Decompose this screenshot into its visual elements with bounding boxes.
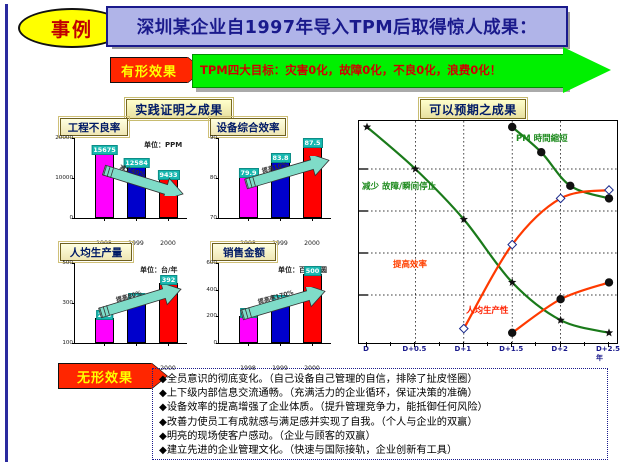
data-point-marker	[567, 182, 574, 189]
intangible-effects-list: ◆全员意识的彻底变化。（自己设备自己管理的自信，排除了扯皮怪圈） ◆上下级内部信…	[152, 368, 608, 460]
x-axis-tick-mark	[312, 218, 313, 221]
x-axis-tick-mark	[136, 343, 137, 346]
tpm-goal-banner: TPM四大目标：灾害0化，故障0化，不良0化，浪费0化！	[192, 54, 612, 86]
data-point-marker	[605, 186, 613, 194]
line-chart-annotation: PM 時間縮短	[516, 132, 568, 144]
y-axis-tick-mark	[72, 138, 75, 139]
x-axis-tick-mark	[414, 342, 415, 347]
list-item: ◆设备效率的提高增强了企业体质。（提升管理竞争力，能抵御任何风险）	[159, 401, 601, 415]
bar-chart-1: 工程不良率单位：PPM01000020000156751998125841999…	[44, 118, 204, 236]
bar-value-label: 9433	[157, 170, 179, 180]
x-axis-tick-mark	[104, 343, 105, 346]
bar-value-label: 186	[240, 308, 258, 318]
goal-banner-shadow	[196, 88, 570, 92]
bar-chart-3: 人均生产量单位：台/年10030050021619983011999392200…	[44, 243, 204, 361]
x-axis-tick-mark	[280, 218, 281, 221]
bar: 392	[159, 283, 178, 343]
data-point-marker	[509, 123, 516, 130]
tag-tangible-label: 有形效果	[121, 61, 177, 80]
x-axis-tick-mark	[248, 218, 249, 221]
x-axis-minor-tick-mark	[439, 342, 440, 346]
bar-value-label: 12584	[123, 158, 150, 168]
x-axis-minor-tick-mark	[584, 342, 585, 346]
bar: 83.8	[271, 161, 290, 218]
line-chart-annotation: 提高效率	[393, 258, 427, 270]
x-axis-tick-mark	[280, 343, 281, 346]
x-axis-minor-tick-mark	[390, 342, 391, 346]
y-axis-tick-mark	[216, 218, 219, 219]
goal-banner-arrowhead-icon	[563, 47, 611, 93]
bar-chart-2: 设备综合效率70809079.9199883.8199987.52000提高10…	[188, 118, 348, 236]
x-axis-tick-mark	[511, 342, 512, 347]
y-axis-tick-label: 10000	[55, 175, 73, 181]
bar-value-label: 500	[304, 266, 322, 276]
bar-value-label: 83.8	[270, 153, 290, 163]
bar: 9433	[159, 178, 178, 218]
bar: 87.5	[303, 146, 322, 218]
bar: 15675	[95, 153, 114, 218]
chart-title: 设备综合效率	[210, 118, 286, 136]
y-axis-tick-mark	[216, 316, 219, 317]
y-axis-tick-label: 20000	[55, 135, 73, 141]
bar-chart-4: 销售金额单位：百万美圆02004006001861998283199950020…	[188, 243, 348, 361]
chart-title: 销售金额	[212, 243, 276, 261]
plot-area: 70809079.9199883.8199987.52000	[218, 138, 331, 219]
y-axis-tick-mark	[216, 178, 219, 179]
x-axis-tick-mark	[560, 342, 561, 347]
bar-value-label: 301	[128, 293, 146, 303]
list-item: ◆改善力使员工有成就感与满足感并实现了自我。（个人与企业的双赢）	[159, 416, 601, 430]
y-axis-tick-mark	[72, 343, 75, 344]
data-point-marker	[605, 279, 612, 286]
list-item: ◆上下级内部信息交流通畅。（充满活力的企业循环，保证决策的准确）	[159, 387, 601, 401]
y-axis-tick-mark	[72, 303, 75, 304]
bar: 283	[271, 303, 290, 343]
y-axis-tick-mark	[216, 263, 219, 264]
x-axis-tick-mark	[312, 343, 313, 346]
tag-intangible-effect: 无形效果	[58, 363, 152, 389]
x-axis-tick-mark	[168, 218, 169, 221]
chart-title: 工程不良率	[60, 118, 128, 136]
plot-area: 0100002000015675199812584199994332000	[74, 138, 187, 219]
bar: 12584	[127, 166, 146, 218]
x-axis-minor-tick-mark	[487, 342, 488, 346]
y-axis-tick-mark	[72, 218, 75, 219]
y-axis-tick-mark	[216, 138, 219, 139]
left-accent-rule	[5, 4, 8, 462]
bar-value-label: 79.9	[238, 168, 258, 178]
tag-tangible-effect: 有形效果	[110, 57, 188, 83]
heading-expected-results: 可以预期之成果	[420, 99, 526, 119]
bar: 186	[239, 316, 258, 343]
list-item: ◆明亮的现场使客户感动。（企业与顾客的双赢）	[159, 430, 601, 444]
bar-value-label: 15675	[91, 145, 118, 155]
bar: 79.9	[239, 176, 258, 218]
y-axis-tick-mark	[216, 343, 219, 344]
x-axis-tick-mark	[463, 342, 464, 347]
bar-value-label: 87.5	[302, 138, 322, 148]
line-chart-annotation: 减少 故障/瞬间停止	[362, 180, 436, 192]
x-axis-tick-mark	[136, 218, 137, 221]
plot-area: 100300500216199830119993922000	[74, 263, 187, 344]
x-axis-tick-mark	[248, 343, 249, 346]
data-point-marker	[460, 324, 468, 332]
x-axis-tick-mark	[608, 342, 609, 347]
data-point-marker	[605, 195, 612, 202]
plot-area: 0200400600186199828319995002000	[218, 263, 331, 344]
chart-title: 人均生产量	[60, 243, 132, 261]
x-axis-tick-mark	[104, 218, 105, 221]
x-axis-tick-mark	[366, 342, 367, 347]
line-series	[367, 127, 609, 333]
heading-proven-results: 实践证明之成果	[126, 99, 232, 119]
bar: 500	[303, 274, 322, 343]
x-axis-tick-label: D+2.5年	[596, 345, 620, 363]
data-point-marker	[509, 329, 516, 336]
page-title: 深圳某企业自1997年导入TPM后取得惊人成果：	[106, 6, 568, 47]
bar-value-label: 392	[160, 275, 178, 285]
data-point-marker	[538, 149, 545, 156]
line-chart-annotation: 人均生产性	[466, 304, 509, 316]
data-point-marker	[605, 328, 613, 336]
bar-value-label: 283	[272, 295, 290, 305]
y-axis-tick-mark	[216, 290, 219, 291]
tag-intangible-label: 无形效果	[77, 367, 133, 386]
x-axis-tick-mark	[168, 343, 169, 346]
bar: 301	[127, 301, 146, 343]
bar-value-label: 216	[96, 310, 114, 320]
y-axis-tick-mark	[72, 178, 75, 179]
goal-banner-text: TPM四大目标：灾害0化，故障0化，不良0化，浪费0化！	[200, 54, 560, 86]
slide-root: 事例 深圳某企业自1997年导入TPM后取得惊人成果： 有形效果 TPM四大目标…	[0, 0, 622, 466]
list-item: ◆全员意识的彻底变化。（自己设备自己管理的自信，排除了扯皮怪圈）	[159, 373, 601, 387]
list-item: ◆建立先进的企业管理文化。（快速与国际接轨，企业创新有工具）	[159, 444, 601, 458]
data-point-marker	[557, 296, 564, 303]
y-axis-tick-mark	[72, 263, 75, 264]
x-axis-minor-tick-mark	[535, 342, 536, 346]
bar: 216	[95, 318, 114, 343]
